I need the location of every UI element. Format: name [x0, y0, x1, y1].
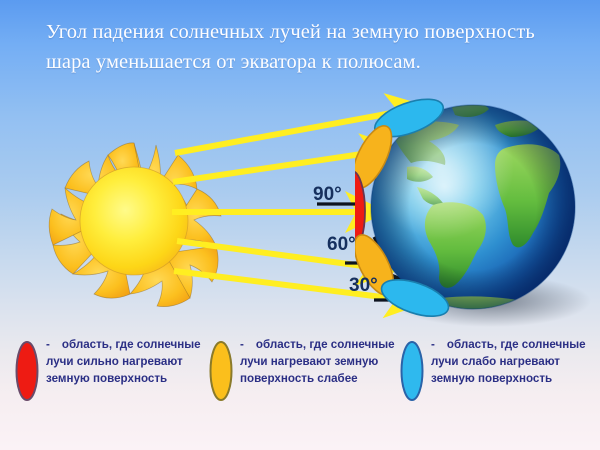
legend-text-equatorial: -область, где солнечные лучи сильно нагр… [46, 336, 204, 387]
legend-desc: область, где солнечные лучи нагревают зе… [240, 338, 395, 385]
globe-icon [355, 95, 600, 330]
legend-text-polar: -область, где солнечные лучи слабо нагре… [431, 336, 595, 387]
legend-swatch-cyan [399, 340, 425, 407]
angle-label-30: 30° [349, 275, 378, 297]
legend-item-polar: -область, где солнечные лучи слабо нагре… [399, 336, 595, 407]
legend-swatch-red [14, 340, 40, 407]
legend-dash: - [431, 338, 435, 351]
angle-label-60: 60° [327, 234, 356, 256]
legend-dash: - [46, 338, 50, 351]
legend: -область, где солнечные лучи сильно нагр… [0, 336, 600, 426]
legend-item-middle: -область, где солнечные лучи нагревают з… [208, 336, 400, 407]
angle-label-90: 90° [313, 184, 342, 206]
legend-item-equatorial: -область, где солнечные лучи сильно нагр… [14, 336, 204, 407]
earth-globe [355, 95, 600, 330]
slide-canvas: Угол падения солнечных лучей на земную п… [0, 0, 600, 450]
legend-desc: область, где солнечные лучи сильно нагре… [46, 338, 201, 385]
sun-ray-2 [173, 151, 382, 182]
legend-desc: область, где солнечные лучи слабо нагрев… [431, 338, 586, 385]
legend-text-middle: -область, где солнечные лучи нагревают з… [240, 336, 400, 387]
legend-swatch-yellow [208, 340, 234, 407]
legend-dash: - [240, 338, 244, 351]
